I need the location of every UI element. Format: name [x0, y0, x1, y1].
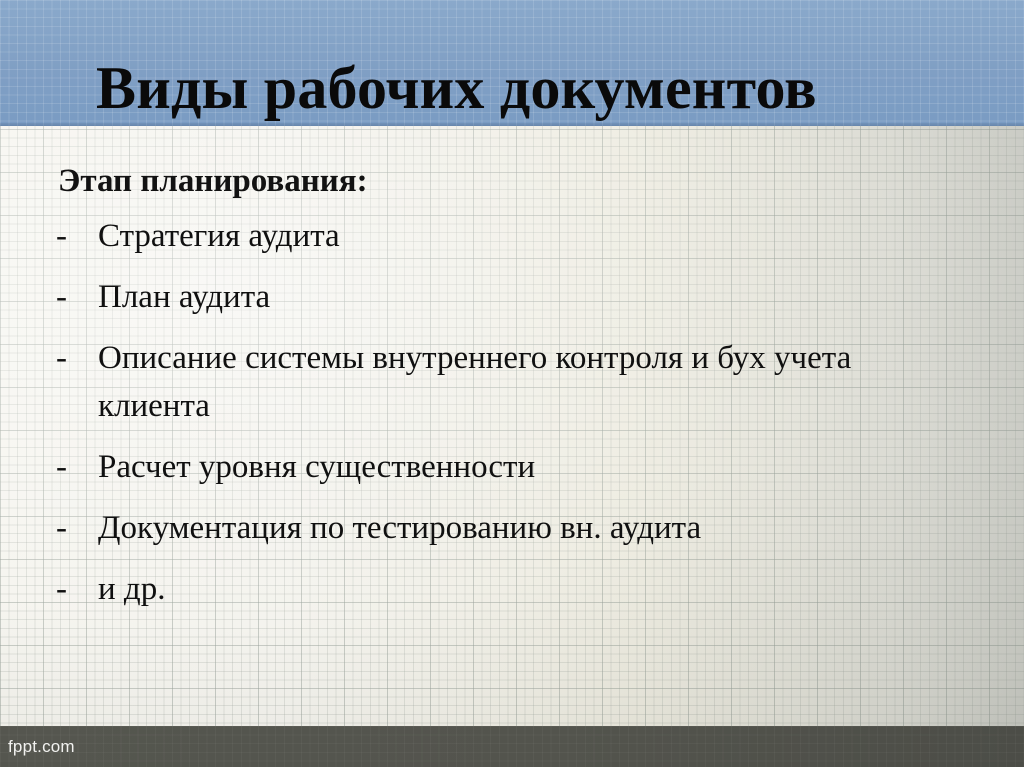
watermark-label: fppt.com: [8, 737, 75, 757]
presentation-slide: Виды рабочих документов Этап планировани…: [0, 0, 1024, 767]
dash-bullet-marker: -: [56, 504, 78, 552]
list-item-label: Документация по тестированию вн. аудита: [98, 504, 888, 552]
dash-bullet-marker: -: [56, 334, 78, 382]
list-item-label: Описание системы внутреннего контроля и …: [98, 334, 888, 430]
dash-bullet-marker: -: [56, 443, 78, 491]
list-item: - План аудита: [0, 273, 1024, 321]
bullet-list: - Стратегия аудита - План аудита - Описа…: [0, 212, 1024, 626]
list-item: - Стратегия аудита: [0, 212, 1024, 260]
footer-bar: fppt.com: [0, 726, 1024, 767]
page-title: Виды рабочих документов: [96, 56, 956, 120]
list-item: - Документация по тестированию вн. аудит…: [0, 504, 1024, 552]
dash-bullet-marker: -: [56, 273, 78, 321]
list-item-label: Стратегия аудита: [98, 212, 888, 260]
list-item: - Описание системы внутреннего контроля …: [0, 334, 1024, 430]
list-item: - и др.: [0, 565, 1024, 613]
list-item-label: Расчет уровня существенности: [98, 443, 888, 491]
dash-bullet-marker: -: [56, 212, 78, 260]
section-subheading: Этап планирования:: [58, 162, 368, 200]
dash-bullet-marker: -: [56, 565, 78, 613]
list-item: - Расчет уровня существенности: [0, 443, 1024, 491]
list-item-label: План аудита: [98, 273, 888, 321]
list-item-label: и др.: [98, 565, 888, 613]
slide-body: Этап планирования: - Стратегия аудита - …: [0, 126, 1024, 726]
